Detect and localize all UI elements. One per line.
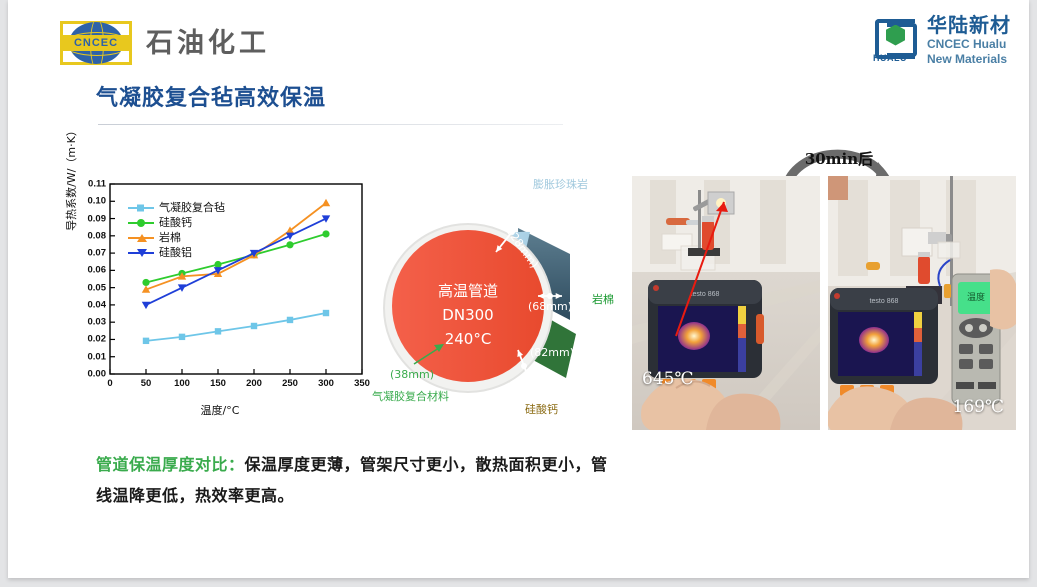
layer-label-aerogel-composite: 气凝胶复合材料 <box>372 390 449 404</box>
chart-legend-item: 气凝胶复合毡 <box>128 200 225 215</box>
layer-label-expanded-perlite: 膨胀珍珠岩 <box>533 178 588 192</box>
title-divider <box>98 124 563 125</box>
header-left-logo: CNCEC 石油化工 <box>60 21 270 65</box>
svg-text:(68mm): (68mm) <box>528 300 572 313</box>
photo-before-temperature: 645℃ <box>642 371 693 388</box>
legend-swatch-2 <box>128 237 154 239</box>
elapsed-time-label: 30min后 <box>780 152 898 167</box>
chart-legend-item: 岩棉 <box>128 230 225 245</box>
chart-legend-item: 硅酸铝 <box>128 245 225 260</box>
svg-text:240°C: 240°C <box>445 330 492 348</box>
pipe-insulation-diagram: 高温管道DN300240°C(128mm)(68mm)(82mm) 膨胀珍珠岩 … <box>370 168 632 430</box>
svg-text:高温管道: 高温管道 <box>438 282 498 300</box>
hualu-name-cn: 华陆新材 <box>927 14 1011 37</box>
legend-label: 岩棉 <box>159 232 181 243</box>
svg-text:testo 868: testo 868 <box>691 291 720 298</box>
photo-before-image: testo 868 <box>632 176 820 430</box>
hualu-name-en2: New Materials <box>927 52 1011 67</box>
legend-label: 气凝胶复合毡 <box>159 202 225 213</box>
header-right-logo: HUALU 华陆新材 CNCEC Hualu New Materials <box>873 14 1011 67</box>
svg-text:(82mm): (82mm) <box>530 346 574 359</box>
cncec-logo-icon: CNCEC <box>60 21 132 65</box>
layer-label-rock-wool: 岩棉 <box>592 293 614 307</box>
photo-after: testo 868 温度 <box>828 176 1016 430</box>
header-brand-text: 石油化工 <box>146 30 270 57</box>
page-title: 气凝胶复合毡高效保温 <box>96 86 326 112</box>
photo-before: testo 868 <box>632 176 820 430</box>
cncec-mark-text: CNCEC <box>74 38 118 49</box>
hualu-mark-text: HUALU <box>873 54 907 63</box>
thermal-conductivity-chart: 导热系数/W/（m·K） 温度/°C 0.000.010.020.030.040… <box>70 176 370 414</box>
chart-legend-item: 硅酸钙 <box>128 215 225 230</box>
photo-after-temperature: 169℃ <box>953 399 1004 416</box>
legend-swatch-1 <box>128 222 154 224</box>
svg-text:DN300: DN300 <box>442 306 493 324</box>
svg-text:testo 868: testo 868 <box>870 298 899 305</box>
layer-thickness-aerogel: (38mm) <box>390 368 434 382</box>
hualu-name-en1: CNCEC Hualu <box>927 37 1011 52</box>
hualu-logo-icon: HUALU <box>873 19 919 63</box>
legend-label: 硅酸铝 <box>159 247 192 258</box>
thermal-test-photos: 30min后 <box>632 176 1016 430</box>
chart-legend: 气凝胶复合毡硅酸钙岩棉硅酸铝 <box>128 200 225 260</box>
svg-text:温度: 温度 <box>967 291 985 303</box>
caption-highlight: 管道保温厚度对比： <box>96 455 245 474</box>
summary-caption: 管道保温厚度对比：保温厚度更薄，管架尺寸更小，散热面积更小，管线温降更低，热效率… <box>96 449 616 511</box>
layer-label-calcium-silicate: 硅酸钙 <box>525 403 558 417</box>
legend-swatch-0 <box>128 207 154 209</box>
legend-label: 硅酸钙 <box>159 217 192 228</box>
legend-swatch-3 <box>128 252 154 254</box>
photo-after-image: testo 868 温度 <box>828 176 1016 430</box>
slide-canvas: CNCEC 石油化工 HUALU 华陆新材 CNCEC Hualu New Ma… <box>8 0 1029 578</box>
